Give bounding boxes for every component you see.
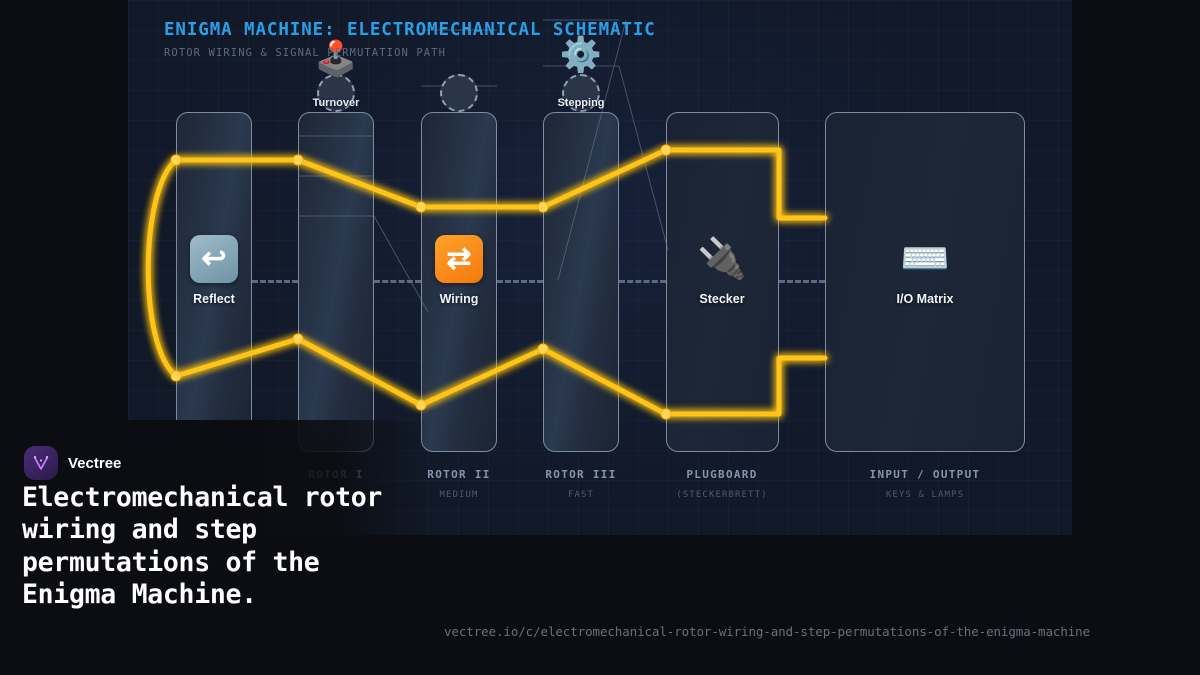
u-turn-arrow-glyph: ↩ [201,244,226,274]
column-title: PLUGBOARD [652,468,792,481]
brand-name: Vectree [68,455,121,472]
bubble-middle[interactable] [440,74,478,112]
node-label-io-matrix: I/O Matrix [855,292,995,306]
node-label-stecker: Stecker [652,292,792,306]
logo-mark [31,453,51,473]
node-label-wiring: Wiring [389,292,529,306]
column-title: INPUT / OUTPUT [855,468,995,481]
node-io-matrix[interactable]: ⌨️ I/O Matrix [855,235,995,306]
page-subtitle: ROTOR WIRING & SIGNAL PERMUTATION PATH [164,47,656,59]
shuffle-glyph: ⇄ [446,244,471,274]
bubble-label-turnover: Turnover [276,97,396,109]
bubble-label-stepping: Stepping [521,97,641,109]
column-sub: KEYS & LAMPS [855,490,995,500]
column-sub: (STECKERBRETT) [652,490,792,500]
node-wiring[interactable]: ⇄ Wiring [389,235,529,306]
column-title: ROTOR III [511,468,651,481]
u-turn-arrow-icon: ↩ [190,235,238,283]
node-reflect[interactable]: ↩ Reflect [144,235,284,306]
shuffle-icon: ⇄ [435,235,483,283]
node-stecker[interactable]: 🔌 Stecker [652,235,792,306]
column-caption-rotor-3: ROTOR III FAST [511,468,651,500]
keyboard-icon: ⌨️ [901,235,949,283]
source-url: vectree.io/c/electromechanical-rotor-wir… [444,624,1090,639]
column-caption-plugboard: PLUGBOARD (STECKERBRETT) [652,468,792,500]
page-title: ENIGMA MACHINE: ELECTROMECHANICAL SCHEMA… [164,20,656,40]
node-label-reflect: Reflect [144,292,284,306]
diagram-header: ENIGMA MACHINE: ELECTROMECHANICAL SCHEMA… [164,20,656,59]
column-sub: FAST [511,490,651,500]
brand-row: Vectree [24,446,121,480]
column-caption-input-output: INPUT / OUTPUT KEYS & LAMPS [855,468,995,500]
overlay-headline: Electromechanical rotor wiring and step … [22,482,422,611]
plug-icon: 🔌 [698,235,746,283]
vectree-logo-icon [24,446,58,480]
